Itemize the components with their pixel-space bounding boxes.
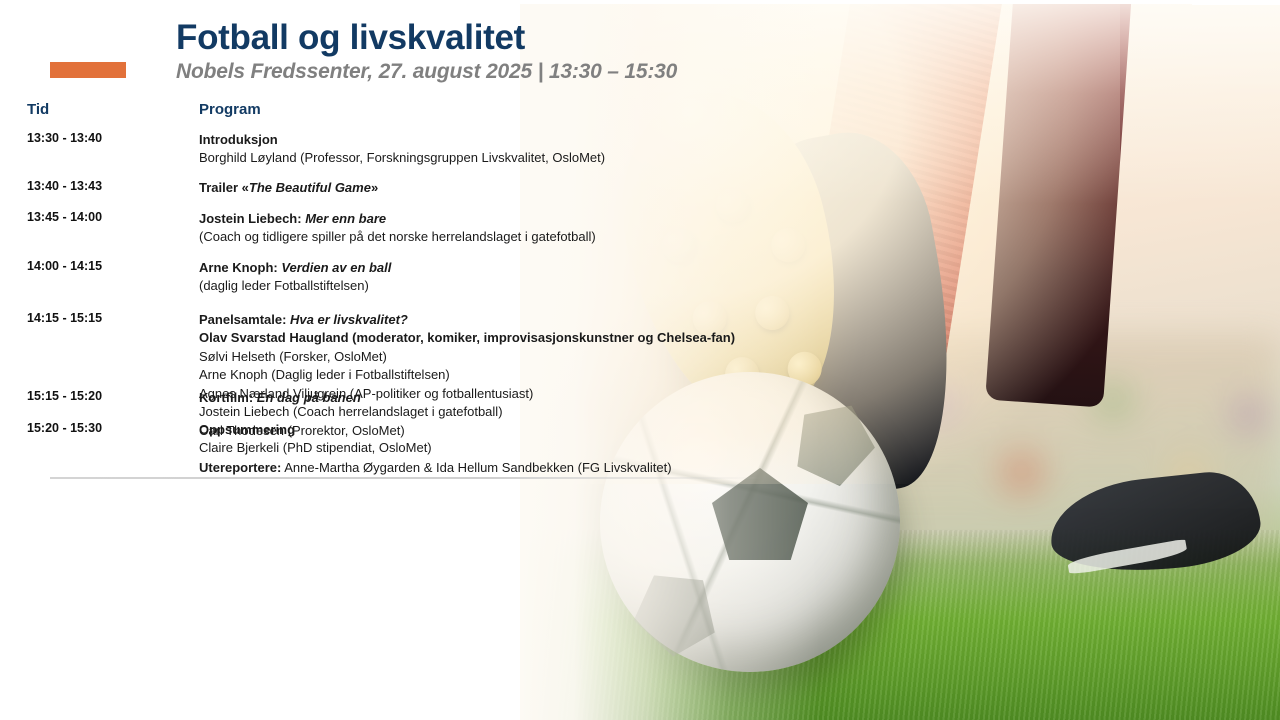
- row-body: Jostein Liebech: Mer enn bare (Coach og …: [199, 210, 820, 247]
- row-time: 13:45 - 14:00: [27, 210, 177, 224]
- row-line-lead: Trailer «: [199, 180, 249, 195]
- schedule-row: 15:15 - 15:20 Kortfilm: En dag på banen: [0, 389, 820, 421]
- slide-root: Fotball og livskvalitet Nobels Fredssent…: [0, 0, 1280, 720]
- schedule-row: 15:20 - 15:30 Oppsummering Claire Bjerke…: [0, 421, 820, 469]
- row-time: 14:00 - 14:15: [27, 259, 177, 273]
- row-line: Introduksjon: [199, 131, 810, 149]
- orange-accent-bar: [50, 62, 126, 78]
- row-time: 15:15 - 15:20: [27, 389, 177, 403]
- column-header-program: Program: [199, 101, 261, 118]
- row-body: Kortfilm: En dag på banen: [199, 389, 820, 407]
- page-subtitle: Nobels Fredssenter, 27. august 2025 | 13…: [176, 60, 677, 84]
- schedule-row: 13:30 - 13:40 Introduksjon Borghild Løyl…: [0, 131, 820, 179]
- row-time: 15:20 - 15:30: [27, 421, 177, 435]
- row-body: Oppsummering Claire Bjerkeli (PhD stipen…: [199, 421, 820, 458]
- row-body: Introduksjon Borghild Løyland (Professor…: [199, 131, 820, 168]
- row-line-panelist: Sølvi Helseth (Forsker, OsloMet): [199, 348, 810, 366]
- row-line-title: Hva er livskvalitet?: [290, 312, 408, 327]
- row-line: (Coach og tidligere spiller på det norsk…: [199, 228, 810, 246]
- row-line-title: En dag på banen: [257, 390, 361, 405]
- row-line: (daglig leder Fotballstiftelsen): [199, 277, 810, 295]
- row-body: Arne Knoph: Verdien av en ball (daglig l…: [199, 259, 820, 296]
- row-line-moderator: Olav Svarstad Haugland (moderator, komik…: [199, 329, 810, 347]
- row-line: Oppsummering: [199, 421, 810, 439]
- row-line: Borghild Løyland (Professor, Forskningsg…: [199, 149, 810, 167]
- row-line-lead: Arne Knoph:: [199, 260, 281, 275]
- row-line: Claire Bjerkeli (PhD stipendiat, OsloMet…: [199, 439, 810, 457]
- row-time: 14:15 - 15:15: [27, 311, 177, 325]
- row-time: 13:30 - 13:40: [27, 131, 177, 145]
- row-line: Panelsamtale: Hva er livskvalitet?: [199, 311, 810, 329]
- row-line-lead: Kortfilm:: [199, 390, 257, 405]
- row-line-lead: Jostein Liebech:: [199, 211, 305, 226]
- section-divider: [50, 477, 762, 479]
- page-title: Fotball og livskvalitet: [176, 18, 525, 58]
- row-line: Trailer «The Beautiful Game»: [199, 179, 810, 197]
- row-line: Arne Knoph: Verdien av en ball: [199, 259, 810, 277]
- row-line-title: Verdien av en ball: [281, 260, 391, 275]
- row-line-title: The Beautiful Game: [249, 180, 371, 195]
- row-line-title: Mer enn bare: [305, 211, 386, 226]
- row-time: 13:40 - 13:43: [27, 179, 177, 193]
- schedule-row: 14:00 - 14:15 Arne Knoph: Verdien av en …: [0, 259, 820, 311]
- column-header-time: Tid: [27, 101, 49, 118]
- row-body: Trailer «The Beautiful Game»: [199, 179, 820, 197]
- row-line-tail: »: [371, 180, 378, 195]
- row-line: Jostein Liebech: Mer enn bare: [199, 210, 810, 228]
- row-line: Kortfilm: En dag på banen: [199, 389, 810, 407]
- row-line-panelist: Arne Knoph (Daglig leder i Fotballstifte…: [199, 366, 810, 384]
- schedule-row: 13:40 - 13:43 Trailer «The Beautiful Gam…: [0, 179, 820, 210]
- program-schedule: 13:30 - 13:40 Introduksjon Borghild Løyl…: [0, 131, 820, 469]
- schedule-row: 13:45 - 14:00 Jostein Liebech: Mer enn b…: [0, 210, 820, 259]
- schedule-row-panel: 14:15 - 15:15 Panelsamtale: Hva er livsk…: [0, 311, 820, 360]
- row-line-lead: Panelsamtale:: [199, 312, 290, 327]
- slide-content: Fotball og livskvalitet Nobels Fredssent…: [0, 0, 1280, 720]
